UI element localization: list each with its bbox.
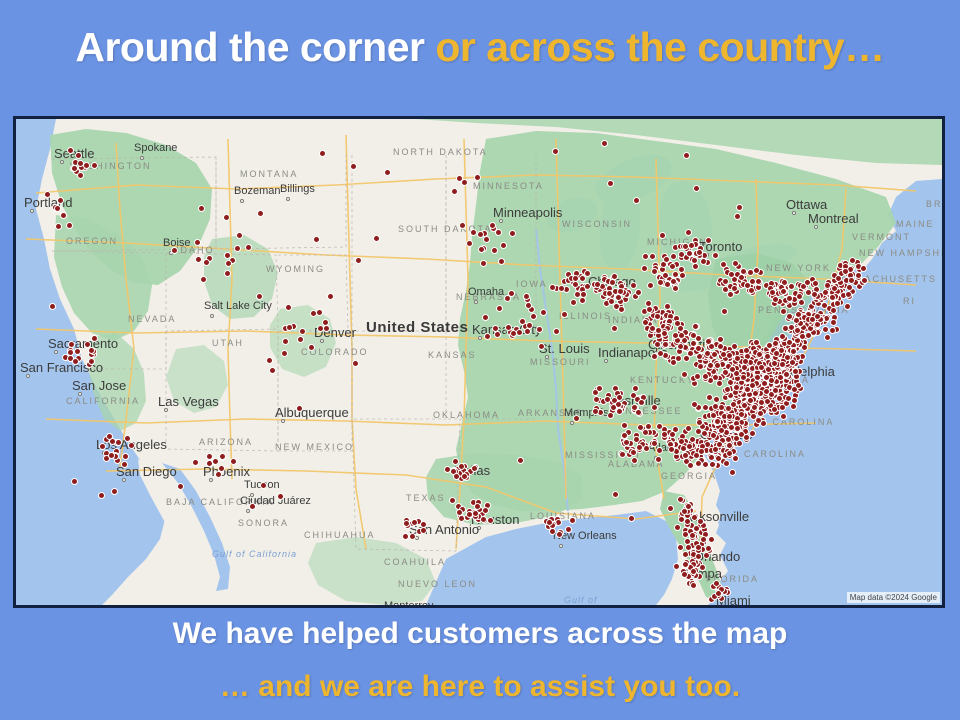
customer-location-marker (91, 162, 98, 169)
customer-location-marker (498, 258, 505, 265)
customer-location-marker (678, 251, 685, 258)
customer-location-marker (572, 281, 579, 288)
customer-location-marker (844, 303, 851, 310)
customer-location-marker (108, 452, 115, 459)
customer-location-marker (516, 329, 523, 336)
customer-location-marker (717, 343, 724, 350)
customer-location-marker (763, 374, 770, 381)
customer-location-marker (296, 405, 303, 412)
customer-location-marker (726, 413, 733, 420)
customer-location-marker (621, 432, 628, 439)
customer-location-marker (824, 282, 831, 289)
customer-location-marker (724, 386, 731, 393)
customer-location-marker (822, 326, 829, 333)
customer-location-marker (714, 418, 721, 425)
customer-location-marker (695, 460, 702, 467)
customer-location-marker (756, 351, 763, 358)
customer-location-marker (696, 419, 703, 426)
map-city-dot-icon (814, 225, 818, 229)
map-city-dot-icon (477, 526, 481, 530)
customer-location-marker (712, 252, 719, 259)
customer-location-marker (500, 242, 507, 249)
customer-location-marker (744, 282, 751, 289)
customer-location-marker (611, 325, 618, 332)
customer-location-marker (798, 299, 805, 306)
map-canvas[interactable]: United States WASHINGTONOREGONIDAHOMONTA… (16, 119, 942, 605)
customer-location-marker (705, 237, 712, 244)
customer-location-marker (860, 265, 867, 272)
customer-location-marker (681, 508, 688, 515)
customer-location-marker (708, 536, 715, 543)
customer-location-marker (790, 348, 797, 355)
customer-location-marker (206, 453, 213, 460)
customer-location-marker (695, 345, 702, 352)
customer-location-marker (758, 364, 765, 371)
customer-location-marker (678, 438, 685, 445)
customer-location-marker (635, 289, 642, 296)
customer-location-marker (699, 564, 706, 571)
customer-location-marker (702, 373, 709, 380)
customer-location-marker (845, 291, 852, 298)
customer-location-marker (662, 272, 669, 279)
customer-location-marker (536, 326, 543, 333)
customer-location-marker (708, 454, 715, 461)
customer-location-marker (700, 536, 707, 543)
customer-location-marker (667, 505, 674, 512)
customer-location-marker (236, 232, 243, 239)
customer-location-marker (684, 518, 691, 525)
customer-location-marker (225, 260, 232, 267)
customer-location-marker (60, 212, 67, 219)
customer-location-marker (740, 374, 747, 381)
customer-location-marker (764, 398, 771, 405)
customer-location-marker (659, 232, 666, 239)
customer-location-marker (732, 455, 739, 462)
customer-location-marker (646, 306, 653, 313)
customer-location-marker (772, 387, 779, 394)
customer-location-marker (754, 374, 761, 381)
map-city-dot-icon (78, 392, 82, 396)
customer-location-marker (74, 348, 81, 355)
customer-location-marker (584, 270, 591, 277)
customer-location-marker (691, 401, 698, 408)
map-city-dot-icon (499, 219, 503, 223)
map-city-dot-icon (209, 478, 213, 482)
customer-location-marker (57, 197, 64, 204)
customer-location-marker (771, 406, 778, 413)
customer-location-marker (630, 449, 637, 456)
customer-location-marker (200, 276, 207, 283)
customer-location-marker (277, 493, 284, 500)
customer-location-marker (177, 483, 184, 490)
customer-location-marker (661, 330, 668, 337)
customer-location-marker (702, 461, 709, 468)
customer-location-marker (471, 465, 478, 472)
customer-location-marker (285, 304, 292, 311)
customer-location-marker (212, 458, 219, 465)
customer-location-marker (743, 347, 750, 354)
customer-location-marker (223, 214, 230, 221)
customer-location-marker (420, 527, 427, 534)
customer-location-marker (701, 430, 708, 437)
customer-location-marker (556, 531, 563, 538)
customer-location-marker (690, 568, 697, 575)
customer-location-marker (461, 473, 468, 480)
customer-location-marker (323, 325, 330, 332)
customer-location-marker (234, 245, 241, 252)
customer-location-marker (772, 296, 779, 303)
customer-location-marker (681, 371, 688, 378)
customer-location-marker (641, 265, 648, 272)
customer-location-marker (249, 503, 256, 510)
customer-location-marker (793, 317, 800, 324)
customer-location-marker (350, 163, 357, 170)
customer-location-marker (592, 408, 599, 415)
customer-location-marker (584, 283, 591, 290)
customer-location-marker (402, 533, 409, 540)
customer-location-marker (749, 430, 756, 437)
customer-location-marker (829, 327, 836, 334)
customer-location-marker (466, 240, 473, 247)
customer-location-marker (743, 434, 750, 441)
customer-location-marker (785, 395, 792, 402)
customer-location-marker (786, 295, 793, 302)
customer-location-marker (519, 318, 526, 325)
customer-location-marker (630, 282, 637, 289)
customer-location-marker (693, 452, 700, 459)
customer-location-marker (459, 222, 466, 229)
customer-location-marker (741, 364, 748, 371)
customer-location-marker (749, 382, 756, 389)
customer-location-marker (835, 275, 842, 282)
customer-location-marker (313, 236, 320, 243)
customer-location-marker (215, 471, 222, 478)
customer-location-marker (786, 313, 793, 320)
customer-location-marker (621, 422, 628, 429)
customer-location-marker (607, 412, 614, 419)
customer-location-marker (633, 197, 640, 204)
map-city-dot-icon (122, 478, 126, 482)
customer-location-marker (794, 327, 801, 334)
customer-location-marker (790, 403, 797, 410)
customer-location-marker (373, 235, 380, 242)
customer-location-marker (540, 309, 547, 316)
customer-location-marker (674, 524, 681, 531)
customer-location-marker (788, 283, 795, 290)
customer-location-marker (687, 462, 694, 469)
customer-location-marker (632, 385, 639, 392)
customer-location-marker (792, 368, 799, 375)
customer-location-marker (713, 396, 720, 403)
customer-location-marker (784, 354, 791, 361)
customer-location-marker (829, 294, 836, 301)
customer-location-marker (192, 459, 199, 466)
customer-location-marker (727, 291, 734, 298)
customer-location-marker (780, 308, 787, 315)
customer-location-marker (780, 413, 787, 420)
customer-location-marker (55, 223, 62, 230)
customer-location-marker (122, 453, 129, 460)
map-city-dot-icon (54, 350, 58, 354)
customer-location-marker (710, 432, 717, 439)
customer-location-marker (679, 272, 686, 279)
customer-location-marker (729, 469, 736, 476)
customer-location-marker (755, 278, 762, 285)
customer-location-marker (615, 294, 622, 301)
customer-location-marker (677, 496, 684, 503)
customer-location-marker (662, 341, 669, 348)
customer-location-marker (711, 351, 718, 358)
customer-location-marker (224, 270, 231, 277)
customer-location-marker (720, 261, 727, 268)
customer-location-marker (281, 350, 288, 357)
customer-location-marker (409, 533, 416, 540)
customer-location-marker (805, 289, 812, 296)
customer-location-marker (230, 458, 237, 465)
customer-location-marker (674, 320, 681, 327)
customer-location-marker (703, 552, 710, 559)
customer-location-marker (628, 515, 635, 522)
customer-location-marker (458, 463, 465, 470)
map-frame[interactable]: United States WASHINGTONOREGONIDAHOMONTA… (13, 116, 945, 608)
customer-location-marker (616, 408, 623, 415)
map-city-dot-icon (60, 160, 64, 164)
customer-location-marker (707, 362, 714, 369)
customer-location-marker (726, 352, 733, 359)
map-city-dot-icon (140, 156, 144, 160)
customer-location-marker (763, 388, 770, 395)
customer-location-marker (747, 269, 754, 276)
customer-location-marker (729, 366, 736, 373)
customer-location-marker (480, 516, 487, 523)
customer-location-marker (801, 344, 808, 351)
customer-location-marker (593, 396, 600, 403)
map-city-dot-icon (474, 300, 478, 304)
customer-location-marker (316, 309, 323, 316)
customer-location-marker (604, 396, 611, 403)
customer-location-marker (124, 435, 131, 442)
customer-location-marker (734, 355, 741, 362)
customer-location-marker (672, 271, 679, 278)
customer-location-marker (198, 205, 205, 212)
customer-location-marker (718, 427, 725, 434)
customer-location-marker (509, 230, 516, 237)
customer-location-marker (224, 252, 231, 259)
customer-location-marker (569, 517, 576, 524)
customer-location-marker (753, 267, 760, 274)
customer-location-marker (538, 343, 545, 350)
customer-location-marker (474, 174, 481, 181)
customer-location-marker (299, 328, 306, 335)
map-city-dot-icon (281, 419, 285, 423)
customer-location-marker (685, 425, 692, 432)
customer-location-marker (128, 442, 135, 449)
customer-location-marker (741, 402, 748, 409)
customer-location-marker (355, 257, 362, 264)
customer-location-marker (773, 350, 780, 357)
customer-location-marker (805, 332, 812, 339)
customer-location-marker (472, 510, 479, 517)
customer-location-marker (458, 515, 465, 522)
customer-location-marker (601, 140, 608, 147)
customer-location-marker (672, 285, 679, 292)
map-city-dot-icon (26, 374, 30, 378)
customer-location-marker (757, 410, 764, 417)
customer-location-marker (77, 172, 84, 179)
customer-location-marker (482, 507, 489, 514)
customer-location-marker (690, 332, 697, 339)
customer-location-marker (682, 551, 689, 558)
customer-location-marker (734, 213, 741, 220)
customer-location-marker (783, 371, 790, 378)
map-city-dot-icon (246, 509, 250, 513)
customer-location-marker (726, 442, 733, 449)
customer-location-marker (71, 165, 78, 172)
customer-location-marker (111, 488, 118, 495)
customer-location-marker (121, 461, 128, 468)
customer-location-marker (510, 330, 517, 337)
customer-location-marker (697, 518, 704, 525)
customer-location-marker (772, 340, 779, 347)
customer-location-marker (670, 278, 677, 285)
customer-location-marker (705, 338, 712, 345)
customer-location-marker (718, 404, 725, 411)
customer-location-marker (449, 497, 456, 504)
customer-location-marker (656, 447, 663, 454)
customer-location-marker (549, 284, 556, 291)
customer-location-marker (491, 247, 498, 254)
customer-location-marker (636, 444, 643, 451)
customer-location-marker (751, 404, 758, 411)
customer-location-marker (779, 333, 786, 340)
customer-location-marker (846, 284, 853, 291)
customer-location-marker (831, 285, 838, 292)
customer-location-marker (106, 433, 113, 440)
customer-location-marker (830, 307, 837, 314)
customer-location-marker (824, 334, 831, 341)
customer-location-marker (607, 180, 614, 187)
map-city-dot-icon (545, 355, 549, 359)
customer-location-marker (115, 439, 122, 446)
customer-location-marker (633, 436, 640, 443)
customer-location-marker (489, 222, 496, 229)
customer-location-marker (668, 446, 675, 453)
customer-location-marker (171, 247, 178, 254)
customer-location-marker (269, 367, 276, 374)
customer-location-marker (791, 386, 798, 393)
customer-location-marker (691, 514, 698, 521)
customer-location-marker (256, 293, 263, 300)
customer-location-marker (477, 231, 484, 238)
customer-location-marker (83, 162, 90, 169)
customer-location-marker (44, 191, 51, 198)
customer-location-marker (88, 347, 95, 354)
customer-location-marker (286, 324, 293, 331)
customer-location-marker (260, 482, 267, 489)
customer-location-marker (689, 436, 696, 443)
customer-location-marker (570, 299, 577, 306)
customer-location-marker (352, 360, 359, 367)
customer-location-marker (203, 259, 210, 266)
customer-location-marker (478, 246, 485, 253)
customer-location-marker (687, 350, 694, 357)
customer-location-marker (452, 458, 459, 465)
customer-location-marker (804, 279, 811, 286)
customer-location-marker (480, 260, 487, 267)
customer-location-marker (649, 253, 656, 260)
customer-location-marker (297, 336, 304, 343)
customer-location-marker (771, 360, 778, 367)
customer-location-marker (822, 289, 829, 296)
customer-location-marker (700, 258, 707, 265)
customer-location-marker (747, 397, 754, 404)
customer-location-marker (310, 310, 317, 317)
customer-location-marker (384, 169, 391, 176)
customer-location-marker (484, 333, 491, 340)
customer-location-marker (723, 460, 730, 467)
customer-location-marker (558, 285, 565, 292)
customer-location-marker (257, 210, 264, 217)
customer-location-marker (715, 455, 722, 462)
customer-location-marker (657, 279, 664, 286)
customer-location-marker (596, 385, 603, 392)
customer-location-marker (91, 335, 98, 342)
customer-location-marker (612, 491, 619, 498)
customer-location-marker (594, 281, 601, 288)
customer-location-marker (444, 466, 451, 473)
customer-location-marker (565, 526, 572, 533)
customer-location-marker (685, 544, 692, 551)
customer-location-marker (791, 397, 798, 404)
map-city-dot-icon (792, 211, 796, 215)
customer-location-marker (651, 404, 658, 411)
customer-location-marker (495, 229, 502, 236)
customer-location-marker (731, 285, 738, 292)
customer-location-marker (664, 281, 671, 288)
customer-location-marker (685, 229, 692, 236)
customer-location-marker (738, 411, 745, 418)
customer-location-marker (688, 242, 695, 249)
customer-location-marker (842, 268, 849, 275)
customer-location-marker (553, 328, 560, 335)
customer-location-marker (655, 456, 662, 463)
customer-location-marker (672, 332, 679, 339)
customer-location-marker (733, 384, 740, 391)
customer-location-marker (195, 256, 202, 263)
customer-location-marker (710, 412, 717, 419)
customer-location-marker (308, 344, 315, 351)
customer-location-marker (704, 350, 711, 357)
customer-location-marker (697, 363, 704, 370)
customer-location-marker (98, 492, 105, 499)
customer-location-marker (572, 275, 579, 282)
customer-location-marker (657, 350, 664, 357)
customer-location-marker (848, 277, 855, 284)
customer-location-marker (482, 314, 489, 321)
customer-location-marker (693, 525, 700, 532)
customer-location-marker (682, 561, 689, 568)
customer-location-marker (689, 532, 696, 539)
customer-location-marker (505, 324, 512, 331)
customer-location-marker (487, 517, 494, 524)
customer-location-marker (733, 435, 740, 442)
customer-location-marker (474, 503, 481, 510)
headline-gold-text: or across the country… (435, 24, 884, 70)
customer-location-marker (317, 325, 324, 332)
customer-location-marker (451, 188, 458, 195)
customer-location-marker (619, 451, 626, 458)
map-city-dot-icon (250, 493, 254, 497)
